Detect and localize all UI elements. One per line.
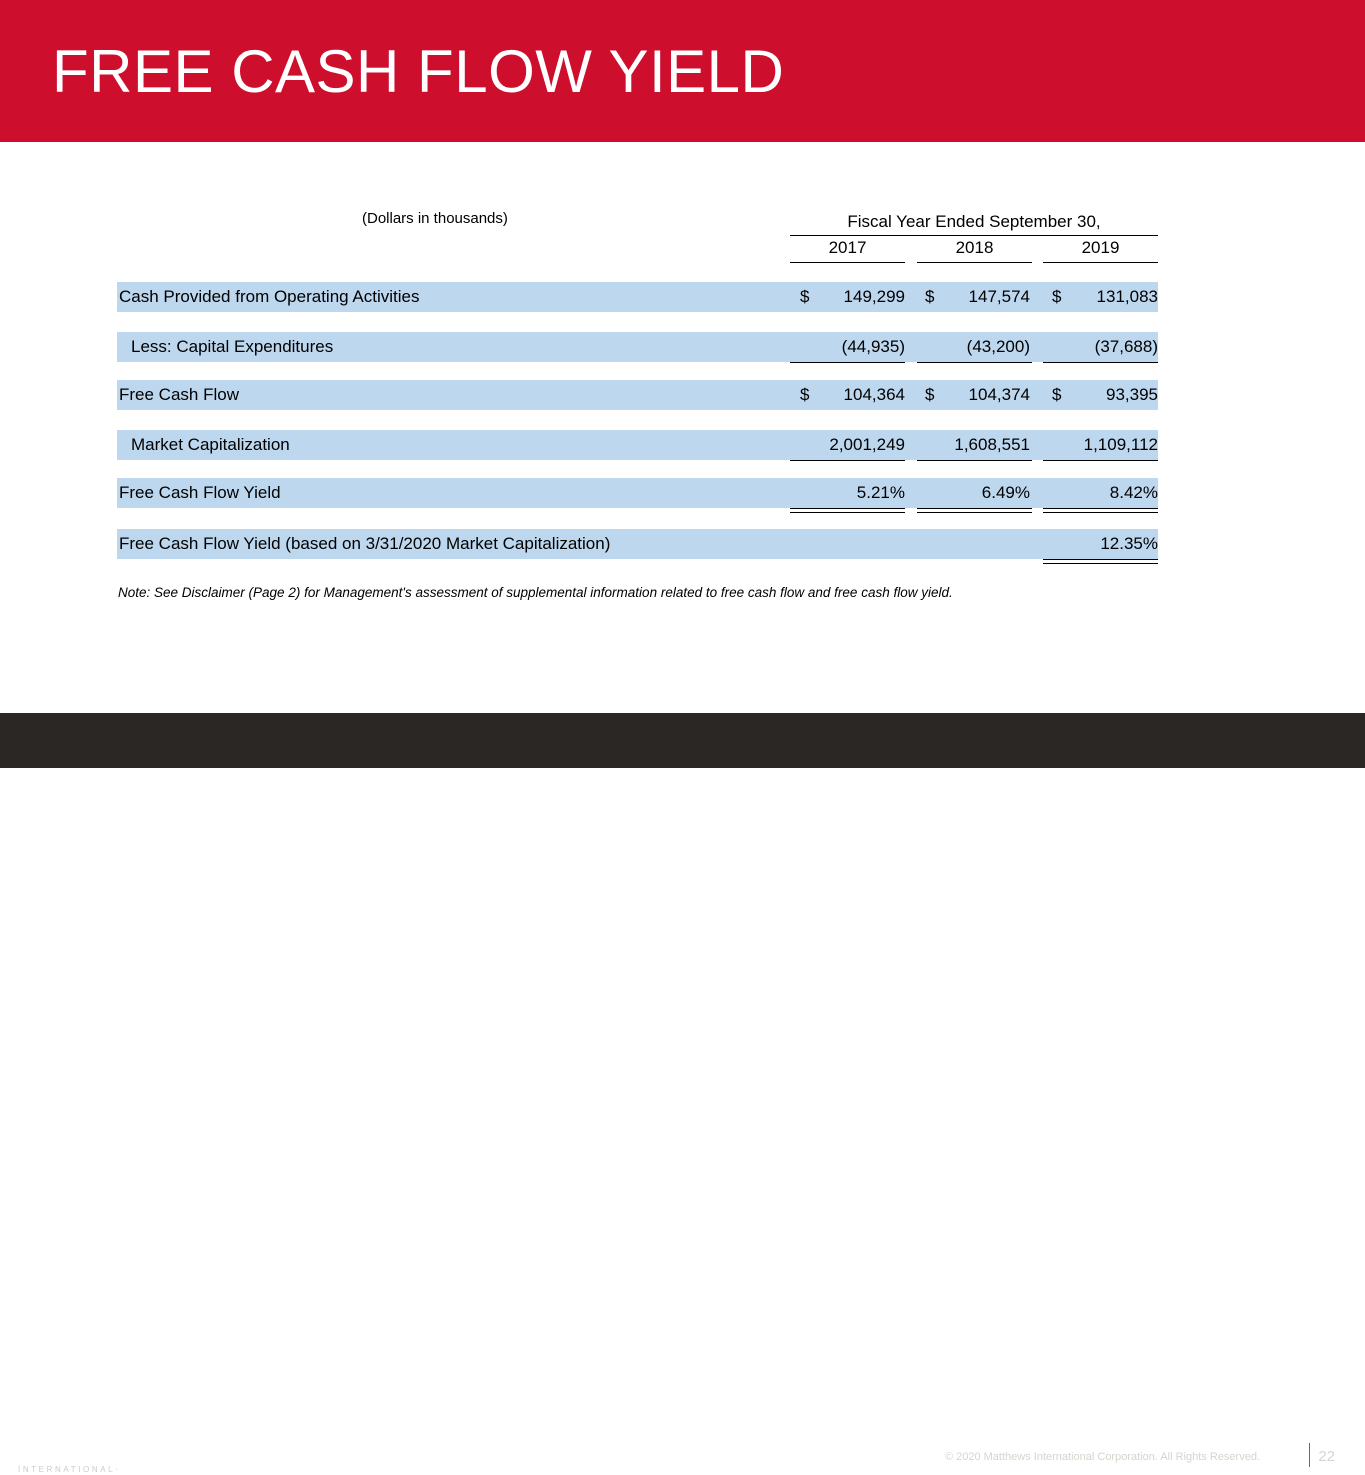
row-label: Market Capitalization: [131, 430, 290, 460]
column-rule-2019: [1043, 262, 1158, 263]
row-label: Free Cash Flow Yield: [119, 478, 281, 508]
table-row: Free Cash Flow $ 104,364 $ 104,374 $ 93,…: [117, 380, 1158, 410]
cell-2017: 5.21%: [790, 478, 905, 508]
row-underline: [1043, 559, 1158, 560]
row-underline: [917, 362, 1032, 363]
row-underline: [917, 460, 1032, 461]
cell-2018: (43,200): [915, 332, 1030, 362]
row-label: Cash Provided from Operating Activities: [119, 282, 419, 312]
copyright-text: © 2020 Matthews International Corporatio…: [945, 1451, 1260, 1463]
cell-2018: 104,374: [915, 380, 1030, 410]
column-rule-2017: [790, 262, 905, 263]
cell-2017: 2,001,249: [790, 430, 905, 460]
logo-wordmark: Matthews: [18, 1442, 120, 1463]
page-number: 22: [1318, 1448, 1335, 1465]
logo-subtitle: INTERNATIONAL·: [18, 1465, 120, 1475]
financial-table: (Dollars in thousands) Fiscal Year Ended…: [0, 142, 1365, 708]
row-underline: [790, 362, 905, 363]
table-row: Free Cash Flow Yield (based on 3/31/2020…: [117, 529, 1158, 559]
table-row: Less: Capital Expenditures (44,935) (43,…: [117, 332, 1158, 362]
row-underline-second: [790, 512, 905, 513]
table-header-group-label: Fiscal Year Ended September 30,: [790, 212, 1158, 232]
column-header-2017: 2017: [790, 238, 905, 258]
cell-2019: 131,083: [1042, 282, 1158, 312]
cell-2019: 8.42%: [1042, 478, 1158, 508]
cell-2018: 6.49%: [915, 478, 1030, 508]
cell-2019: 93,395: [1042, 380, 1158, 410]
column-header-2019: 2019: [1043, 238, 1158, 258]
footer-divider: [1309, 1443, 1310, 1467]
row-label: Free Cash Flow Yield (based on 3/31/2020…: [119, 529, 610, 559]
cell-2017: 104,364: [790, 380, 905, 410]
row-underline: [1043, 460, 1158, 461]
table-header-rule: [790, 235, 1158, 236]
row-underline: [917, 508, 1032, 509]
cell-2019: (37,688): [1042, 332, 1158, 362]
title-banner: FREE CASH FLOW YIELD: [0, 0, 1365, 142]
cell-2019: 1,109,112: [1042, 430, 1158, 460]
row-underline-second: [1043, 512, 1158, 513]
column-rule-2018: [917, 262, 1032, 263]
row-label: Free Cash Flow: [119, 380, 239, 410]
column-header-2018: 2018: [917, 238, 1032, 258]
row-label: Less: Capital Expenditures: [131, 332, 333, 362]
cell-2017: 149,299: [790, 282, 905, 312]
row-underline-second: [1043, 563, 1158, 564]
row-underline: [790, 460, 905, 461]
table-row: Market Capitalization 2,001,249 1,608,55…: [117, 430, 1158, 460]
page-title: FREE CASH FLOW YIELD: [52, 36, 784, 108]
footer-bar: Matthews INTERNATIONAL· © 2020 Matthews …: [0, 713, 1365, 768]
cell-2018: 147,574: [915, 282, 1030, 312]
cell-2018: 1,608,551: [915, 430, 1030, 460]
disclaimer-note: Note: See Disclaimer (Page 2) for Manage…: [118, 585, 953, 600]
row-underline: [790, 508, 905, 509]
table-row: Free Cash Flow Yield 5.21% 6.49% 8.42%: [117, 478, 1158, 508]
row-underline-second: [917, 512, 1032, 513]
cell-2019: 12.35%: [1042, 529, 1158, 559]
cell-2017: (44,935): [790, 332, 905, 362]
table-row: Cash Provided from Operating Activities …: [117, 282, 1158, 312]
units-label: (Dollars in thousands): [362, 210, 508, 227]
matthews-logo: Matthews INTERNATIONAL·: [18, 1442, 120, 1475]
row-underline: [1043, 508, 1158, 509]
row-underline: [1043, 362, 1158, 363]
